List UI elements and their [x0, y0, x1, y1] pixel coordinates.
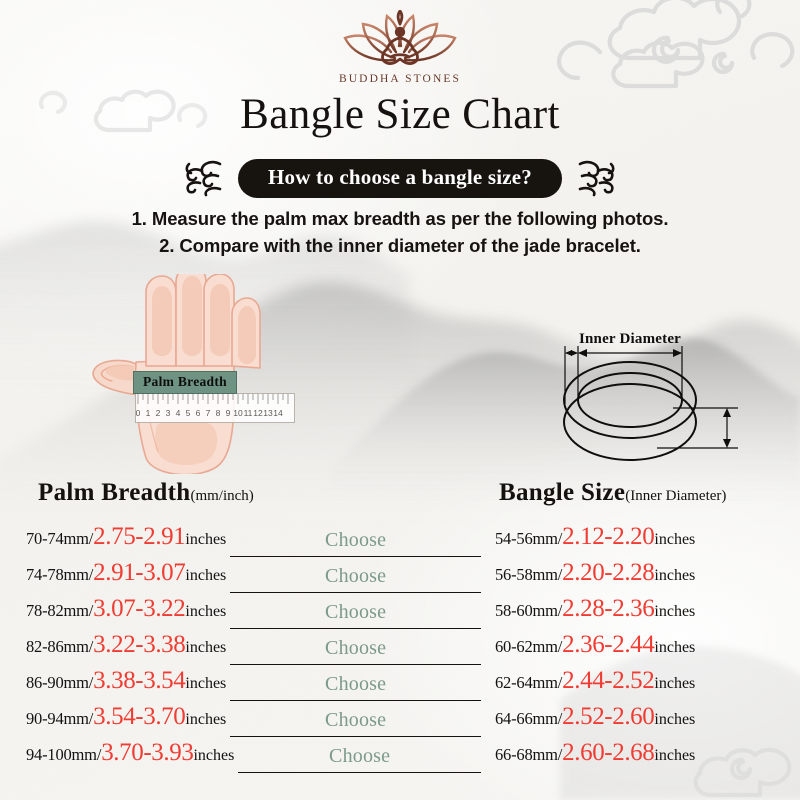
- row-inch-range: 2.36-2.44: [562, 631, 654, 658]
- brand-wordmark: BUDDHA STONES: [0, 73, 800, 85]
- table-row: 60-62mm/2.36-2.44inches: [495, 631, 795, 667]
- instructions-block: 1. Measure the palm max breadth as per t…: [0, 205, 800, 259]
- row-mm-range: 66-68mm/: [495, 745, 562, 764]
- row-inch-range: 3.70-3.93: [101, 739, 193, 766]
- choose-label: Choose: [230, 601, 481, 624]
- bangle-size-table: 54-56mm/2.12-2.20inches56-58mm/2.20-2.28…: [495, 523, 795, 775]
- table-row: 66-68mm/2.60-2.68inches: [495, 739, 795, 775]
- choose-label: Choose: [238, 745, 481, 768]
- cloud-swirl-ornament-icon-left: [180, 157, 226, 199]
- row-mm-range: 94-100mm/: [26, 745, 101, 764]
- ruler-tick-label: 1: [146, 408, 151, 418]
- ruler-tick-label: 5: [186, 408, 191, 418]
- choose-underline: [230, 664, 481, 665]
- ruler-tick-label: 6: [196, 408, 201, 418]
- row-inch-range: 2.44-2.52: [562, 667, 654, 694]
- table-row: 82-86mm/3.22-3.38inchesChoose: [26, 631, 481, 667]
- row-inch-unit: inches: [185, 711, 226, 728]
- row-inch-unit: inches: [654, 747, 695, 764]
- ruler-tick-label: 7: [206, 408, 211, 418]
- how-to-choose-banner: How to choose a bangle size?: [238, 159, 562, 198]
- row-inch-unit: inches: [654, 675, 695, 692]
- row-inch-range: 2.91-3.07: [93, 559, 185, 586]
- row-inch-range: 3.54-3.70: [93, 703, 185, 730]
- cloud-swirl-ornament-icon-right: [574, 157, 620, 199]
- choose-underline: [238, 772, 481, 773]
- palm-row-spec: 74-78mm/2.91-3.07inches: [26, 559, 226, 587]
- row-mm-range: 58-60mm/: [495, 601, 562, 620]
- row-mm-range: 56-58mm/: [495, 565, 562, 584]
- row-inch-unit: inches: [185, 603, 226, 620]
- row-inch-unit: inches: [654, 567, 695, 584]
- row-inch-unit: inches: [185, 675, 226, 692]
- row-inch-unit: inches: [193, 747, 234, 764]
- ruler-tick-label: 3: [166, 408, 171, 418]
- choose-field[interactable]: Choose: [230, 601, 481, 631]
- palm-row-spec: 94-100mm/3.70-3.93inches: [26, 739, 234, 767]
- bangle-ring-diagram: [505, 326, 755, 476]
- table-row: 74-78mm/2.91-3.07inchesChoose: [26, 559, 481, 595]
- bangle-size-chart-page: BUDDHA STONES Bangle Size Chart How to c…: [0, 0, 800, 800]
- row-inch-unit: inches: [185, 531, 226, 548]
- choose-label: Choose: [230, 529, 481, 552]
- table-row: 90-94mm/3.54-3.70inchesChoose: [26, 703, 481, 739]
- choose-field[interactable]: Choose: [238, 745, 481, 775]
- choose-field[interactable]: Choose: [230, 565, 481, 595]
- row-inch-unit: inches: [654, 639, 695, 656]
- table-row: 70-74mm/2.75-2.91inchesChoose: [26, 523, 481, 559]
- ruler-tick-label: 2: [156, 408, 161, 418]
- row-mm-range: 82-86mm/: [26, 637, 93, 656]
- table-row: 62-64mm/2.44-2.52inches: [495, 667, 795, 703]
- row-inch-unit: inches: [654, 531, 695, 548]
- palm-row-spec: 70-74mm/2.75-2.91inches: [26, 523, 226, 551]
- instruction-line-1: 1. Measure the palm max breadth as per t…: [0, 205, 800, 232]
- bangle-row-spec: 64-66mm/2.52-2.60inches: [495, 703, 695, 731]
- ruler-tick-label: 12: [253, 408, 263, 418]
- table-row: 78-82mm/3.07-3.22inchesChoose: [26, 595, 481, 631]
- choose-underline: [230, 592, 481, 593]
- row-inch-range: 2.20-2.28: [562, 559, 654, 586]
- palm-row-spec: 82-86mm/3.22-3.38inches: [26, 631, 226, 659]
- row-inch-range: 2.52-2.60: [562, 703, 654, 730]
- row-inch-range: 3.07-3.22: [93, 595, 185, 622]
- row-inch-range: 2.12-2.20: [562, 523, 654, 550]
- table-row: 56-58mm/2.20-2.28inches: [495, 559, 795, 595]
- instruction-line-2: 2. Compare with the inner diameter of th…: [0, 232, 800, 259]
- choose-field[interactable]: Choose: [230, 529, 481, 559]
- choose-underline: [230, 556, 481, 557]
- row-mm-range: 54-56mm/: [495, 529, 562, 548]
- row-inch-range: 2.75-2.91: [93, 523, 185, 550]
- choose-field[interactable]: Choose: [230, 637, 481, 667]
- choose-underline: [230, 628, 481, 629]
- bangle-row-spec: 60-62mm/2.36-2.44inches: [495, 631, 695, 659]
- ruler-tick-label: 13: [263, 408, 273, 418]
- ruler-tick-label: 11: [244, 408, 253, 418]
- ruler-icon: 01234567891011121314: [135, 393, 295, 423]
- bangle-row-spec: 58-60mm/2.28-2.36inches: [495, 595, 695, 623]
- table-row: 54-56mm/2.12-2.20inches: [495, 523, 795, 559]
- row-inch-range: 3.22-3.38: [93, 631, 185, 658]
- section-unit-right: (Inner Diameter): [625, 488, 726, 504]
- row-inch-unit: inches: [185, 639, 226, 656]
- table-row: 58-60mm/2.28-2.36inches: [495, 595, 795, 631]
- row-mm-range: 74-78mm/: [26, 565, 93, 584]
- brand-logo: BUDDHA STONES: [0, 10, 800, 85]
- choose-label: Choose: [230, 565, 481, 588]
- bangle-row-spec: 54-56mm/2.12-2.20inches: [495, 523, 695, 551]
- ruler-tick-label: 8: [216, 408, 221, 418]
- row-inch-unit: inches: [654, 603, 695, 620]
- choose-label: Choose: [230, 637, 481, 660]
- table-row: 86-90mm/3.38-3.54inchesChoose: [26, 667, 481, 703]
- row-mm-range: 70-74mm/: [26, 529, 93, 548]
- row-inch-range: 3.38-3.54: [93, 667, 185, 694]
- row-mm-range: 78-82mm/: [26, 601, 93, 620]
- palm-breadth-table: 70-74mm/2.75-2.91inchesChoose74-78mm/2.9…: [26, 523, 481, 775]
- lotus-meditation-icon: [339, 10, 461, 72]
- page-title: Bangle Size Chart: [0, 90, 800, 139]
- choose-underline: [230, 700, 481, 701]
- section-title-left: Palm Breadth: [38, 479, 190, 506]
- banner-row: How to choose a bangle size?: [0, 157, 800, 199]
- ruler-tick-label: 9: [226, 408, 231, 418]
- row-mm-range: 60-62mm/: [495, 637, 562, 656]
- choose-underline: [230, 736, 481, 737]
- section-header-palm-breadth: Palm Breadth(mm/inch): [38, 479, 254, 507]
- bangle-row-spec: 56-58mm/2.20-2.28inches: [495, 559, 695, 587]
- choose-label: Choose: [230, 709, 481, 732]
- choose-field[interactable]: Choose: [230, 709, 481, 739]
- row-mm-range: 64-66mm/: [495, 709, 562, 728]
- palm-row-spec: 86-90mm/3.38-3.54inches: [26, 667, 226, 695]
- row-inch-range: 2.60-2.68: [562, 739, 654, 766]
- choose-label: Choose: [230, 673, 481, 696]
- palm-row-spec: 90-94mm/3.54-3.70inches: [26, 703, 226, 731]
- row-inch-unit: inches: [185, 567, 226, 584]
- row-mm-range: 62-64mm/: [495, 673, 562, 692]
- row-mm-range: 90-94mm/: [26, 709, 93, 728]
- table-row: 94-100mm/3.70-3.93inchesChoose: [26, 739, 481, 775]
- section-title-right: Bangle Size: [499, 479, 625, 506]
- row-mm-range: 86-90mm/: [26, 673, 93, 692]
- palm-breadth-badge: Palm Breadth: [133, 371, 237, 394]
- ruler-tick-label: 14: [273, 408, 283, 418]
- section-unit-left: (mm/inch): [190, 488, 253, 504]
- bangle-row-spec: 62-64mm/2.44-2.52inches: [495, 667, 695, 695]
- ruler-tick-label: 10: [233, 408, 243, 418]
- ruler-tick-label: 4: [176, 408, 181, 418]
- bangle-row-spec: 66-68mm/2.60-2.68inches: [495, 739, 695, 767]
- palm-row-spec: 78-82mm/3.07-3.22inches: [26, 595, 226, 623]
- table-row: 64-66mm/2.52-2.60inches: [495, 703, 795, 739]
- section-header-bangle-size: Bangle Size(Inner Diameter): [499, 479, 726, 507]
- row-inch-range: 2.28-2.36: [562, 595, 654, 622]
- choose-field[interactable]: Choose: [230, 673, 481, 703]
- row-inch-unit: inches: [654, 711, 695, 728]
- ruler-tick-label: 0: [136, 408, 141, 418]
